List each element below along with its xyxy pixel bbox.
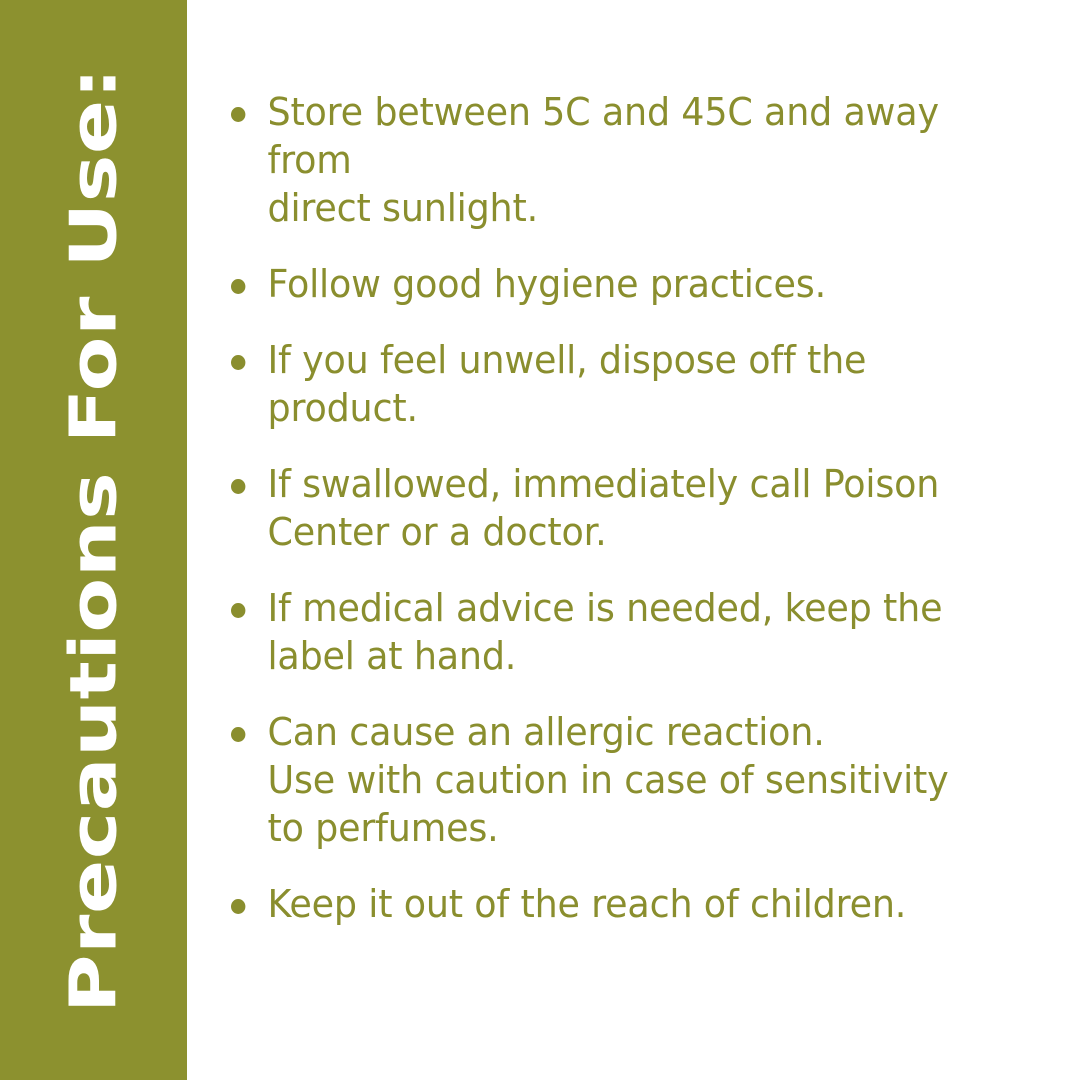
list-item-children: Keep it out of the reach of children. — [231, 880, 999, 928]
list-item-hygiene: Follow good hygiene practices. — [231, 260, 999, 308]
list-item-label: Can cause an allergic reaction. Use with… — [267, 708, 999, 852]
bullet-dot-icon — [231, 603, 245, 618]
precautions-list: Store between 5C and 45C and away from d… — [231, 88, 1031, 928]
list-item-label: Keep it out of the reach of children. — [267, 880, 999, 928]
list-item-unwell: If you feel unwell, dispose off the prod… — [231, 336, 999, 432]
list-item-medical-advice: If medical advice is needed, keep the la… — [231, 584, 999, 680]
list-item-label: If swallowed, immediately call Poison Ce… — [267, 460, 999, 556]
bullet-dot-icon — [231, 899, 245, 914]
bullet-dot-icon — [231, 479, 245, 494]
sidebar-panel: Precautions For Use: — [0, 0, 187, 1080]
bullet-dot-icon — [231, 355, 245, 370]
list-item-label: Store between 5C and 45C and away from d… — [267, 88, 999, 232]
list-item-storage: Store between 5C and 45C and away from d… — [231, 88, 999, 232]
precautions-card: Precautions For Use: Store between 5C an… — [0, 0, 1080, 1080]
list-item-allergic-reaction: Can cause an allergic reaction. Use with… — [231, 708, 999, 852]
page-title: Precautions For Use: — [62, 67, 126, 1013]
content-panel: Store between 5C and 45C and away from d… — [187, 0, 1080, 1080]
list-item-swallowed: If swallowed, immediately call Poison Ce… — [231, 460, 999, 556]
list-item-label: Follow good hygiene practices. — [267, 260, 999, 308]
list-item-label: If medical advice is needed, keep the la… — [267, 584, 999, 680]
list-item-label: If you feel unwell, dispose off the prod… — [267, 336, 999, 432]
bullet-dot-icon — [231, 279, 245, 294]
bullet-dot-icon — [231, 727, 245, 742]
bullet-dot-icon — [231, 107, 245, 122]
